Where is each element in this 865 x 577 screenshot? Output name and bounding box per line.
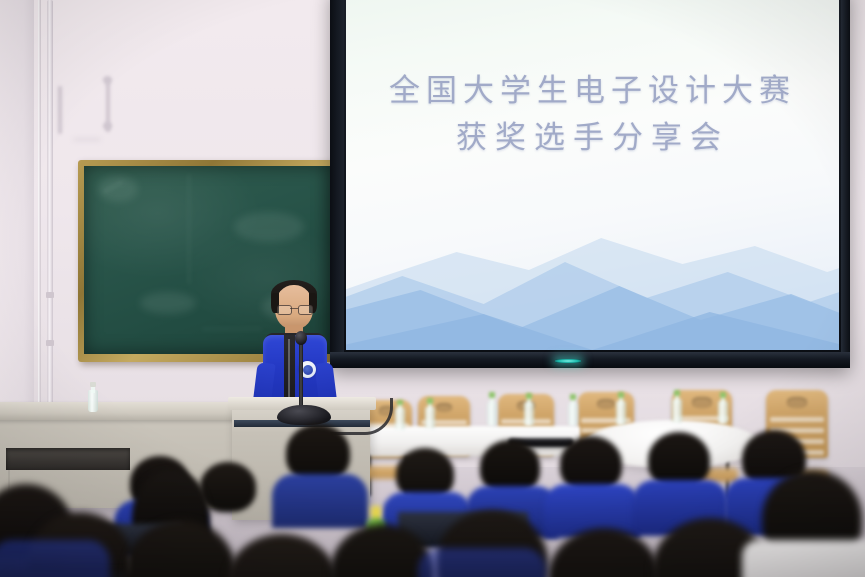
audience-vest: [0, 540, 110, 577]
slide-title-block: 全国大学生电子设计大赛 获奖选手分享会: [346, 68, 839, 161]
wall-fixture-anchor: [103, 76, 112, 84]
microphone-head: [295, 331, 307, 345]
audience-vest: [418, 548, 546, 577]
display-bezel-right: [841, 0, 850, 368]
display-bezel-bottom: [330, 352, 850, 368]
pipe-joint: [46, 340, 54, 346]
water-bottle: [524, 393, 534, 426]
audience-member-front: [126, 520, 236, 577]
chalk-streak: [202, 328, 262, 330]
chair-handle-hole: [597, 399, 615, 409]
chalk-streak: [188, 174, 190, 284]
slide-wave-accent: [346, 308, 839, 350]
microphone-base: [277, 405, 331, 425]
desk-shelf: [6, 448, 130, 470]
projection-display: 全国大学生电子设计大赛 获奖选手分享会: [330, 0, 850, 368]
water-bottle: [425, 398, 435, 429]
chalk-smudge: [98, 176, 138, 202]
slide-title-line-1: 全国大学生电子设计大赛: [346, 68, 839, 115]
chair-handle-hole: [692, 397, 711, 408]
water-bottle: [395, 400, 405, 430]
chalk-smudge: [234, 212, 304, 242]
water-bottle-on-desk: [88, 382, 98, 412]
wall-conduit-pipe: [47, 0, 53, 448]
teacher-desk-top: [0, 402, 256, 420]
wall-seam: [38, 0, 41, 470]
pipe-joint: [46, 292, 54, 298]
chalk-smudge: [140, 292, 196, 314]
presenter-glasses: [277, 305, 311, 313]
wall-fixture-hook: [58, 86, 62, 134]
water-bottle: [718, 392, 728, 424]
audience-member-front: [226, 534, 338, 577]
wall-fixture-anchor: [103, 122, 112, 130]
microphone-stem: [299, 340, 303, 410]
audience-body-front: [742, 540, 865, 577]
water-bottle: [672, 390, 682, 423]
slide-screen: 全国大学生电子设计大赛 获奖选手分享会: [346, 0, 839, 350]
water-bottle: [568, 394, 578, 426]
chair-handle-hole: [436, 403, 453, 413]
chair-handle-hole: [787, 397, 807, 408]
classroom-photo-scene: 全国大学生电子设计大赛 获奖选手分享会: [0, 0, 865, 577]
power-indicator-led: [555, 359, 581, 363]
audience-member-front: [548, 528, 660, 577]
slide-title-line-2: 获奖选手分享会: [346, 115, 839, 162]
presenter-vest-zipper: [288, 339, 290, 403]
wall-mark: [73, 138, 101, 141]
water-bottle: [487, 392, 497, 426]
audience-shoulders: [272, 474, 368, 528]
water-bottle: [616, 392, 626, 425]
